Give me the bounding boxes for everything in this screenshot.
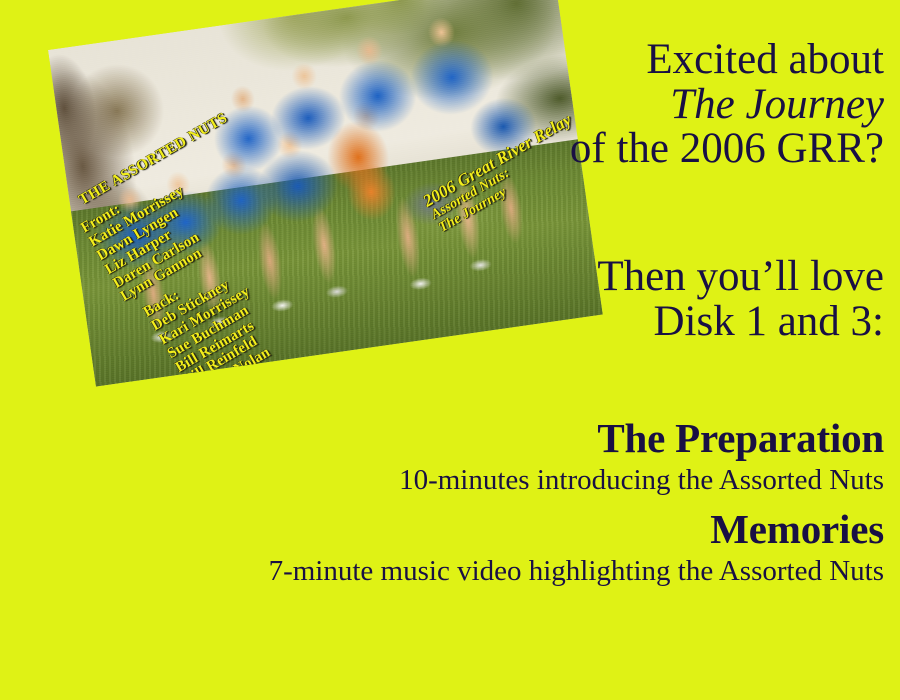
disk-description: 10-minutes introducing the Assorted Nuts — [14, 463, 884, 497]
headline: Excited about The Journey of the 2006 GR… — [570, 38, 884, 172]
photo-grain-overlay — [48, 0, 603, 387]
headline-line-3: of the 2006 GRR? — [570, 127, 884, 172]
headline-line-2-italic: The Journey — [570, 83, 884, 128]
disk-entry: Memories 7-minute music video highlighti… — [14, 507, 884, 588]
disk-title: The Preparation — [14, 416, 884, 461]
disk-listing: The Preparation 10-minutes introducing t… — [14, 416, 884, 589]
subhead-line-1: Then you’ll love — [597, 255, 884, 300]
subhead: Then you’ll love Disk 1 and 3: — [597, 255, 884, 344]
headline-line-1: Excited about — [570, 38, 884, 83]
subhead-line-2: Disk 1 and 3: — [597, 300, 884, 345]
disk-title: Memories — [14, 507, 884, 552]
disk-description: 7-minute music video highlighting the As… — [14, 554, 884, 588]
poster-canvas: THE ASSORTED NUTS Front: Katie Morrissey… — [0, 0, 900, 700]
disk-entry: The Preparation 10-minutes introducing t… — [14, 416, 884, 497]
team-photo: THE ASSORTED NUTS Front: Katie Morrissey… — [48, 0, 603, 387]
